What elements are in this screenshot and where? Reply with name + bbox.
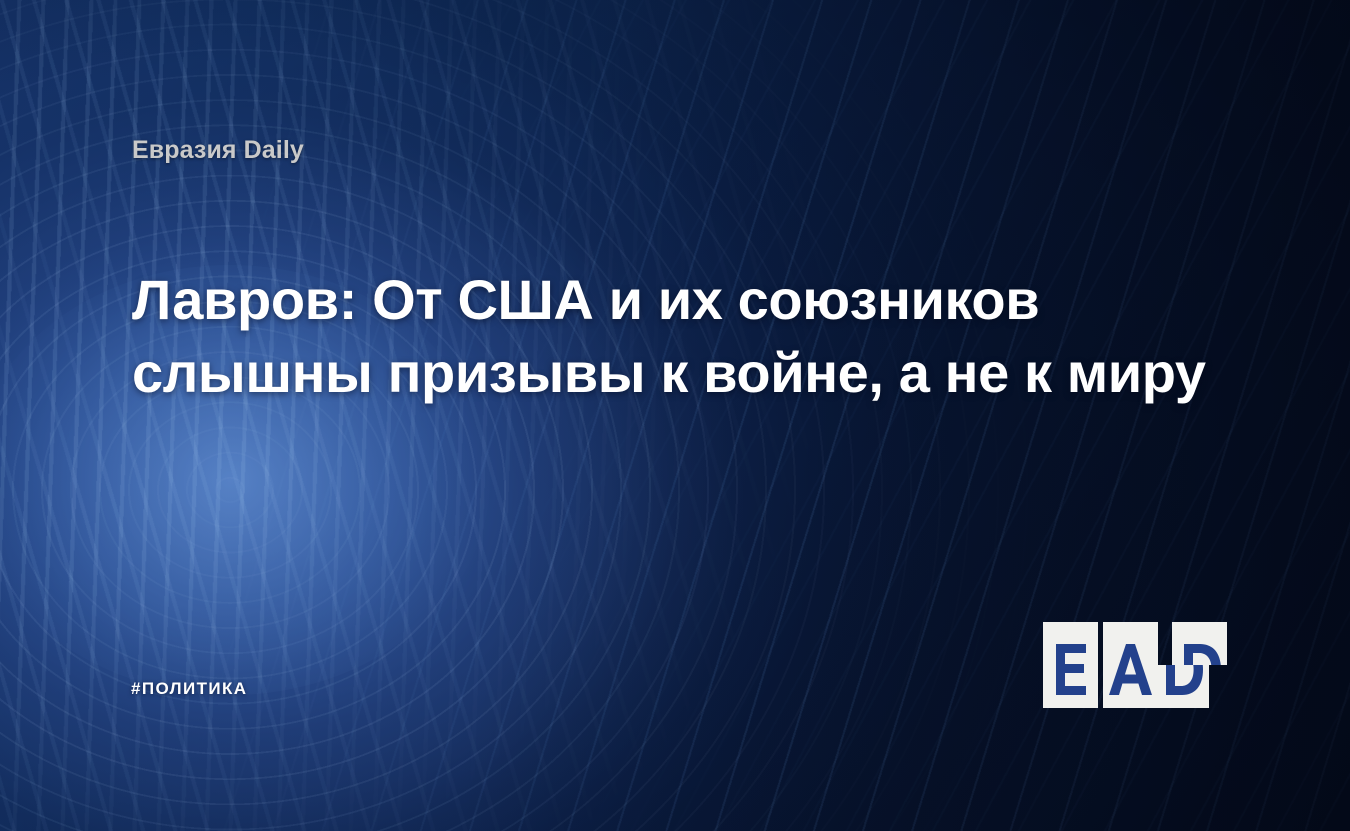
category-tag-politics[interactable]: #ПОЛИТИКА <box>131 679 247 699</box>
news-share-card: Евразия Daily Лавров: От США и их союзни… <box>0 0 1350 831</box>
logo-d-upper-half <box>1172 622 1227 665</box>
logo-d-lower-half <box>1154 665 1209 708</box>
logo-tile-e <box>1043 622 1098 708</box>
logo-tile-a <box>1103 622 1158 708</box>
page-title: Лавров: От США и их союзников слышны при… <box>132 264 1222 410</box>
logo-tile-d-split <box>1163 622 1218 708</box>
eadaily-logo[interactable] <box>1043 622 1218 708</box>
brand-name: Евразия Daily <box>132 136 304 165</box>
card-content: Евразия Daily Лавров: От США и их союзни… <box>0 0 1350 831</box>
